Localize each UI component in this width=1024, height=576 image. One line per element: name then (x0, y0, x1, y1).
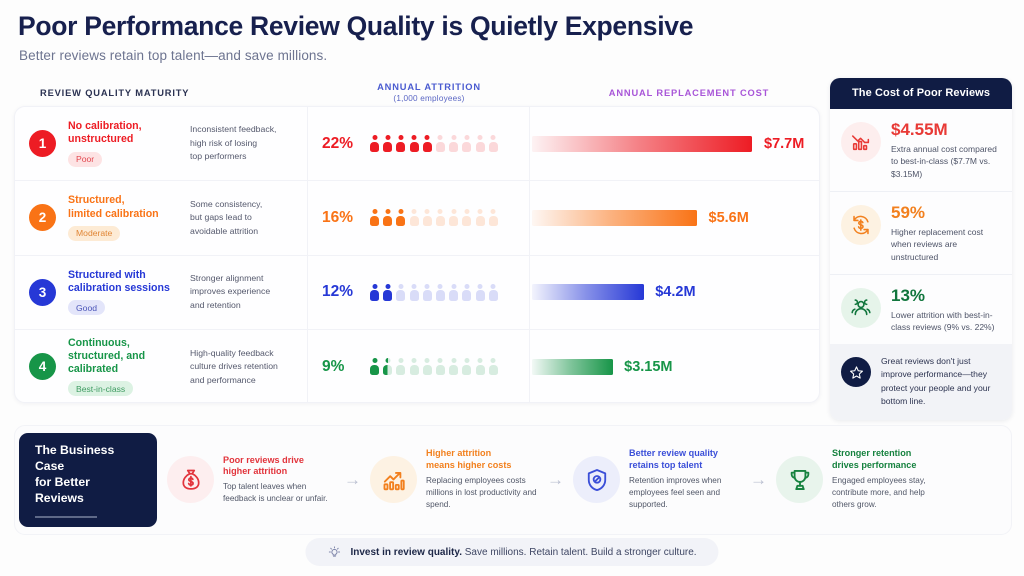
maturity-description: Stronger alignment improves experience a… (190, 272, 297, 312)
infographic-page: Poor Performance Review Quality is Quiet… (0, 0, 1024, 576)
maturity-rating-badge: Moderate (68, 226, 120, 241)
column-header-attrition-sublabel: (1,000 employees) (318, 94, 540, 103)
flow-step-description: Retention improves when employees feel s… (629, 475, 741, 511)
person-icon (396, 209, 405, 226)
cost-value: $4.2M (655, 284, 695, 300)
cost-bar-track (530, 136, 752, 152)
flow-step-description: Top talent leaves when feedback is uncle… (223, 481, 335, 505)
person-icon (462, 284, 471, 301)
business-case-flow: The Business Case for Better Reviews Poo… (14, 425, 1012, 535)
person-icon (410, 284, 419, 301)
attrition-cell: 12% (307, 256, 529, 329)
stat-value: 59% (891, 204, 1001, 223)
cost-summary-heading: The Cost of Poor Reviews (830, 78, 1012, 109)
person-icon (449, 209, 458, 226)
stat-description: Extra annual cost compared to best-in-cl… (891, 143, 1001, 181)
person-icon (423, 358, 432, 375)
maturity-rating-badge: Good (68, 300, 105, 315)
person-icon (489, 284, 498, 301)
maturity-level-number: 4 (29, 353, 56, 380)
chart-decline-icon (841, 122, 881, 162)
flow-step: Stronger retention drives performanceEng… (776, 448, 944, 511)
attrition-percent: 22% (322, 135, 364, 153)
page-subtitle: Better reviews retain top talent—and sav… (14, 48, 1010, 63)
column-header-maturity: REVIEW QUALITY MATURITY (40, 88, 189, 98)
maturity-text: Structured, limited calibrationModerate (68, 194, 180, 241)
maturity-description: Inconsistent feedback, high risk of losi… (190, 123, 297, 163)
attrition-percent: 9% (322, 358, 364, 376)
maturity-rating-badge: Best-in-class (68, 381, 133, 396)
maturity-level-number: 1 (29, 130, 56, 157)
cost-value: $3.15M (624, 359, 672, 375)
table-row: 4Continuous, structured, and calibratedB… (15, 330, 819, 403)
attrition-person-icons (370, 358, 498, 375)
business-case-title-card: The Business Case for Better Reviews (19, 433, 157, 527)
maturity-cell: 2Structured, limited calibrationModerate… (15, 181, 307, 254)
column-header-attrition-label: ANNUAL ATTRITION (377, 82, 481, 92)
flow-step-body: Poor reviews drive higher attritionTop t… (223, 455, 335, 506)
cost-cell: $4.2M (529, 256, 819, 329)
person-icon (383, 135, 392, 152)
dollar-refresh-icon (841, 205, 881, 245)
star-icon (841, 357, 871, 387)
maturity-cell: 4Continuous, structured, and calibratedB… (15, 330, 307, 403)
attrition-percent: 16% (322, 209, 364, 227)
stat-body: 59%Higher replacement cost when reviews … (891, 203, 1001, 264)
footer-text-rest: Save millions. Retain talent. Build a st… (462, 547, 697, 558)
table-row: 3Structured with calibration sessionsGoo… (15, 256, 819, 330)
cost-cell: $7.7M (529, 107, 819, 180)
person-icon (436, 135, 445, 152)
person-icon (436, 209, 445, 226)
table-row: 1No calibration, unstructuredPoorInconsi… (15, 107, 819, 181)
cost-summary-card: The Cost of Poor Reviews $4.55MExtra ann… (830, 78, 1012, 420)
stat-value: $4.55M (891, 121, 1001, 140)
flow-arrow-icon: → (344, 470, 361, 490)
attrition-percent: 12% (322, 283, 364, 301)
person-icon (423, 284, 432, 301)
maturity-level-number: 3 (29, 279, 56, 306)
people-group-icon (841, 288, 881, 328)
cost-summary-quote-text: Great reviews don't just improve perform… (881, 355, 1001, 408)
person-icon (370, 209, 379, 226)
flow-step: Better review quality retains top talent… (573, 448, 741, 511)
stat-body: $4.55MExtra annual cost compared to best… (891, 120, 1001, 181)
person-icon (489, 209, 498, 226)
person-icon (410, 135, 419, 152)
cost-bar (532, 136, 752, 152)
person-icon (396, 284, 405, 301)
attrition-person-icons (370, 135, 498, 152)
person-icon (436, 284, 445, 301)
person-icon (449, 358, 458, 375)
attrition-cell: 22% (307, 107, 529, 180)
maturity-level-number: 2 (29, 204, 56, 231)
maturity-rating-badge: Poor (68, 152, 102, 167)
person-icon (462, 358, 471, 375)
column-header-cost: ANNUAL REPLACEMENT COST (544, 88, 834, 98)
maturity-title: Structured, limited calibration (68, 194, 180, 220)
cost-bar-track (530, 284, 752, 300)
page-title: Poor Performance Review Quality is Quiet… (14, 12, 1010, 42)
table-row: 2Structured, limited calibrationModerate… (15, 181, 819, 255)
maturity-text: Continuous, structured, and calibratedBe… (68, 337, 180, 397)
person-icon (436, 358, 445, 375)
maturity-cell: 1No calibration, unstructuredPoorInconsi… (15, 107, 307, 180)
person-icon (476, 135, 485, 152)
person-icon (423, 135, 432, 152)
person-icon (410, 209, 419, 226)
stat-item: $4.55MExtra annual cost compared to best… (830, 109, 1012, 191)
cost-summary-quote: Great reviews don't just improve perform… (830, 344, 1012, 420)
person-icon (383, 358, 392, 375)
flow-step: Higher attrition means higher costsRepla… (370, 448, 538, 511)
footer-callout: Invest in review quality. Save millions.… (305, 538, 718, 566)
attrition-person-icons (370, 284, 498, 301)
flow-step-description: Replacing employees costs millions in lo… (426, 475, 538, 511)
maturity-text: No calibration, unstructuredPoor (68, 120, 180, 167)
title-divider (35, 516, 97, 518)
maturity-cell: 3Structured with calibration sessionsGoo… (15, 256, 307, 329)
maturity-title: No calibration, unstructured (68, 120, 180, 146)
footer-text: Invest in review quality. Save millions.… (350, 547, 696, 558)
money-bag-icon (167, 456, 214, 503)
person-icon (396, 135, 405, 152)
attrition-cell: 16% (307, 181, 529, 254)
maturity-description: Some consistency, but gaps lead to avoid… (190, 198, 297, 238)
lightbulb-icon (327, 545, 341, 559)
cost-summary-stats: $4.55MExtra annual cost compared to best… (830, 109, 1012, 344)
person-icon (476, 209, 485, 226)
person-icon (423, 209, 432, 226)
business-case-steps: Poor reviews drive higher attritionTop t… (157, 448, 1011, 511)
flow-step-body: Stronger retention drives performanceEng… (832, 448, 944, 511)
person-icon (449, 284, 458, 301)
person-icon (383, 284, 392, 301)
person-icon (476, 358, 485, 375)
business-case-title: The Business Case for Better Reviews (35, 442, 141, 506)
attrition-person-icons (370, 209, 498, 226)
stat-description: Lower attrition with best-in-class revie… (891, 309, 1001, 335)
cost-bar (532, 284, 644, 300)
cost-bar (532, 359, 613, 375)
person-icon (410, 358, 419, 375)
cost-value: $7.7M (764, 136, 804, 152)
column-header-attrition: ANNUAL ATTRITION (1,000 employees) (318, 82, 540, 103)
person-icon (370, 358, 379, 375)
flow-step-description: Engaged employees stay, contribute more,… (832, 475, 944, 511)
person-icon (370, 284, 379, 301)
person-icon (489, 135, 498, 152)
footer-text-bold: Invest in review quality. (350, 547, 462, 558)
maturity-description: High-quality feedback culture drives ret… (190, 347, 297, 387)
person-icon (462, 135, 471, 152)
flow-arrow-icon: → (547, 470, 564, 490)
cost-cell: $5.6M (529, 181, 819, 254)
maturity-title: Continuous, structured, and calibrated (68, 337, 180, 377)
person-icon (476, 284, 485, 301)
growth-chart-icon (370, 456, 417, 503)
flow-step-body: Better review quality retains top talent… (629, 448, 741, 511)
flow-arrow-icon: → (750, 470, 767, 490)
flow-step-title: Poor reviews drive higher attrition (223, 455, 335, 479)
person-icon (449, 135, 458, 152)
person-icon (396, 358, 405, 375)
flow-step-title: Stronger retention drives performance (832, 448, 944, 472)
person-icon (462, 209, 471, 226)
person-icon (370, 135, 379, 152)
person-icon (489, 358, 498, 375)
trophy-icon (776, 456, 823, 503)
stat-body: 13%Lower attrition with best-in-class re… (891, 286, 1001, 334)
flow-step-title: Better review quality retains top talent (629, 448, 741, 472)
stat-item: 13%Lower attrition with best-in-class re… (830, 274, 1012, 344)
cost-bar (532, 210, 697, 226)
flow-step-title: Higher attrition means higher costs (426, 448, 538, 472)
cost-value: $5.6M (709, 210, 749, 226)
shield-check-icon (573, 456, 620, 503)
flow-step: Poor reviews drive higher attritionTop t… (167, 455, 335, 506)
attrition-cell: 9% (307, 330, 529, 403)
maturity-text: Structured with calibration sessionsGood (68, 269, 180, 316)
maturity-matrix-table: 1No calibration, unstructuredPoorInconsi… (14, 106, 820, 403)
stat-value: 13% (891, 287, 1001, 306)
maturity-title: Structured with calibration sessions (68, 269, 180, 295)
person-icon (383, 209, 392, 226)
flow-step-body: Higher attrition means higher costsRepla… (426, 448, 538, 511)
stat-item: 59%Higher replacement cost when reviews … (830, 191, 1012, 274)
cost-cell: $3.15M (529, 330, 819, 403)
stat-description: Higher replacement cost when reviews are… (891, 226, 1001, 264)
